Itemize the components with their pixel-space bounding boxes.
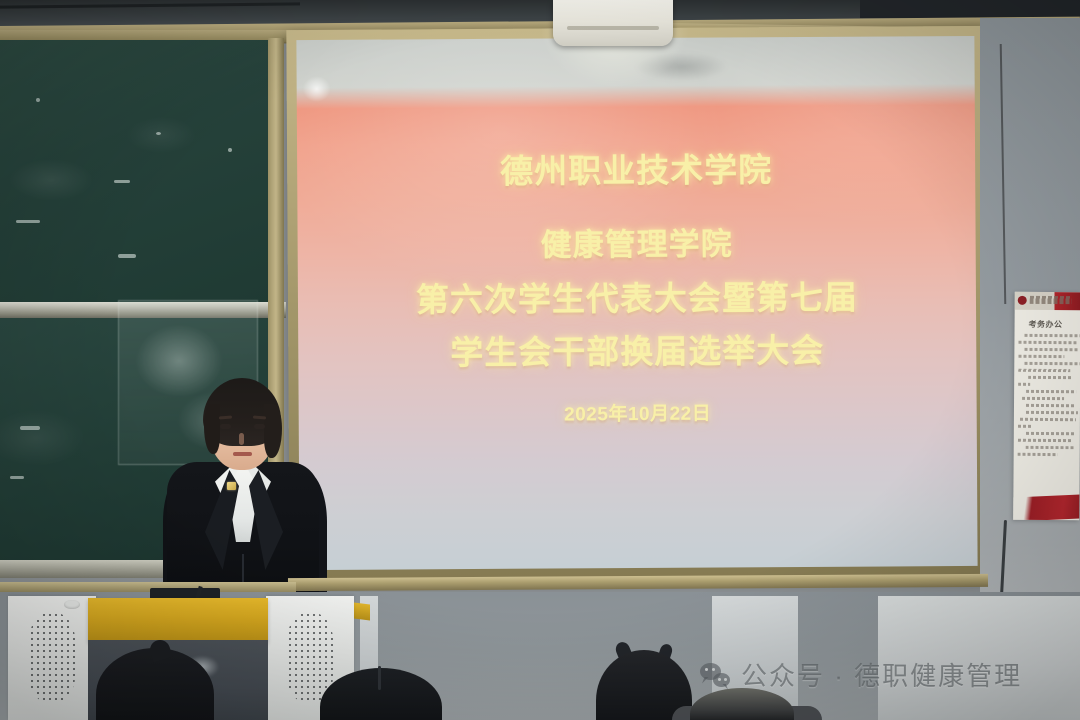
presenter-nose [239,433,244,445]
chalkboard-upper-panel [0,40,278,302]
notice-line [1018,439,1072,442]
notice-board-poster: 考务办公 [1013,292,1080,520]
projection-screen: 德州职业技术学院 健康管理学院 第六次学生代表大会暨第七届 学生会干部换届选举大… [296,36,977,570]
notice-body-text [1018,334,1079,460]
slide-title-event-line1: 第六次学生代表大会暨第七届 [416,271,858,322]
chalk-mark [156,132,161,135]
ceiling-seam [0,2,300,8]
notice-line [1018,425,1032,428]
presenter-mouth [233,452,252,456]
slide-title-event-line2: 学生会干部换届选举大会 [450,324,824,374]
notice-line [1018,355,1064,358]
slide-title-college: 健康管理学院 [540,218,732,264]
chalk-mark [10,476,24,479]
photo-scene: 德州职业技术学院 健康管理学院 第六次学生代表大会暨第七届 学生会干部换届选举大… [0,0,1080,720]
chalk-mark [114,180,130,183]
notice-line [1020,418,1076,421]
chalk-mark [228,148,232,152]
chalk-mark [36,98,40,102]
slide-title-institution: 德州职业技术学院 [500,143,772,193]
chalk-mark [118,254,136,258]
ceiling-dark-panel [860,0,1080,18]
notice-line [1026,432,1076,435]
presenter-eye-left [220,424,231,429]
presenter-eye-right [254,424,265,429]
podium-top [88,598,268,642]
left-speaker-cabinet [8,596,96,720]
chalk-mark [20,426,40,430]
notice-line [1024,362,1080,365]
wall-panel-right [878,596,1080,720]
notice-line [1022,397,1064,400]
emblem-icon [1018,296,1027,305]
audience-hair-part [378,666,381,690]
lapel-pin-icon [227,482,236,490]
notice-title: 考务办公 [1029,319,1063,330]
notice-line [1026,446,1074,449]
notice-footer-band [1013,494,1080,520]
chalk-mark [16,220,40,223]
slide-date: 2025年10月22日 [564,399,711,427]
notice-line [1026,404,1074,407]
notice-line [1024,348,1078,351]
notice-header-band [1015,292,1080,310]
projection-screen-frame: 德州职业技术学院 健康管理学院 第六次学生代表大会暨第七届 学生会干部换届选举大… [286,26,989,582]
notice-line [1018,369,1070,372]
notice-header-text [1030,296,1072,304]
notice-line [1026,390,1076,393]
notice-line [1018,383,1030,386]
speaker-grille-left [29,612,75,704]
notice-line [1018,341,1076,344]
ceiling-light-fixture [553,0,673,46]
notice-line [1028,376,1072,379]
notice-line [1024,334,1080,337]
notice-line [1018,453,1058,456]
presenter [165,378,325,608]
notice-line [1026,411,1078,414]
slide-content: 德州职业技术学院 健康管理学院 第六次学生代表大会暨第七届 学生会干部换届选举大… [296,36,977,570]
